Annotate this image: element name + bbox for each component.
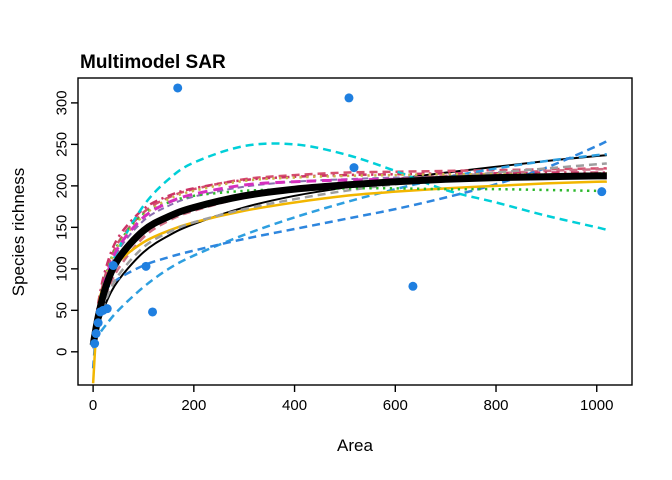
y-tick-label: 0	[54, 348, 71, 356]
x-tick-label: 200	[181, 397, 206, 414]
x-tick-label: 600	[383, 397, 408, 414]
data-point	[148, 307, 157, 316]
y-axis-label: Species richness	[9, 168, 28, 297]
data-point	[141, 262, 150, 271]
data-point	[94, 318, 103, 327]
x-tick-label: 1000	[580, 397, 613, 414]
y-tick-label: 300	[54, 90, 71, 115]
data-point	[597, 187, 606, 196]
data-point	[103, 304, 112, 313]
multimodel-sar-plot: Multimodel SAR 02004006008001000 0501001…	[0, 0, 672, 480]
x-tick-label: 800	[484, 397, 509, 414]
y-tick-label: 150	[54, 215, 71, 240]
data-point	[408, 282, 417, 291]
y-tick-label: 50	[54, 302, 71, 319]
x-tick-label: 0	[89, 397, 97, 414]
data-point	[90, 339, 99, 348]
y-tick-label: 100	[54, 256, 71, 281]
y-tick-label: 200	[54, 173, 71, 198]
data-point	[349, 163, 358, 172]
chart-canvas: Multimodel SAR 02004006008001000 0501001…	[0, 0, 672, 480]
x-axis-label: Area	[337, 436, 373, 455]
data-point	[344, 93, 353, 102]
data-point	[109, 261, 118, 270]
y-tick-label: 250	[54, 132, 71, 157]
x-tick-label: 400	[282, 397, 307, 414]
data-point	[92, 329, 101, 338]
page-title: Multimodel SAR	[80, 52, 226, 73]
data-point	[173, 83, 182, 92]
